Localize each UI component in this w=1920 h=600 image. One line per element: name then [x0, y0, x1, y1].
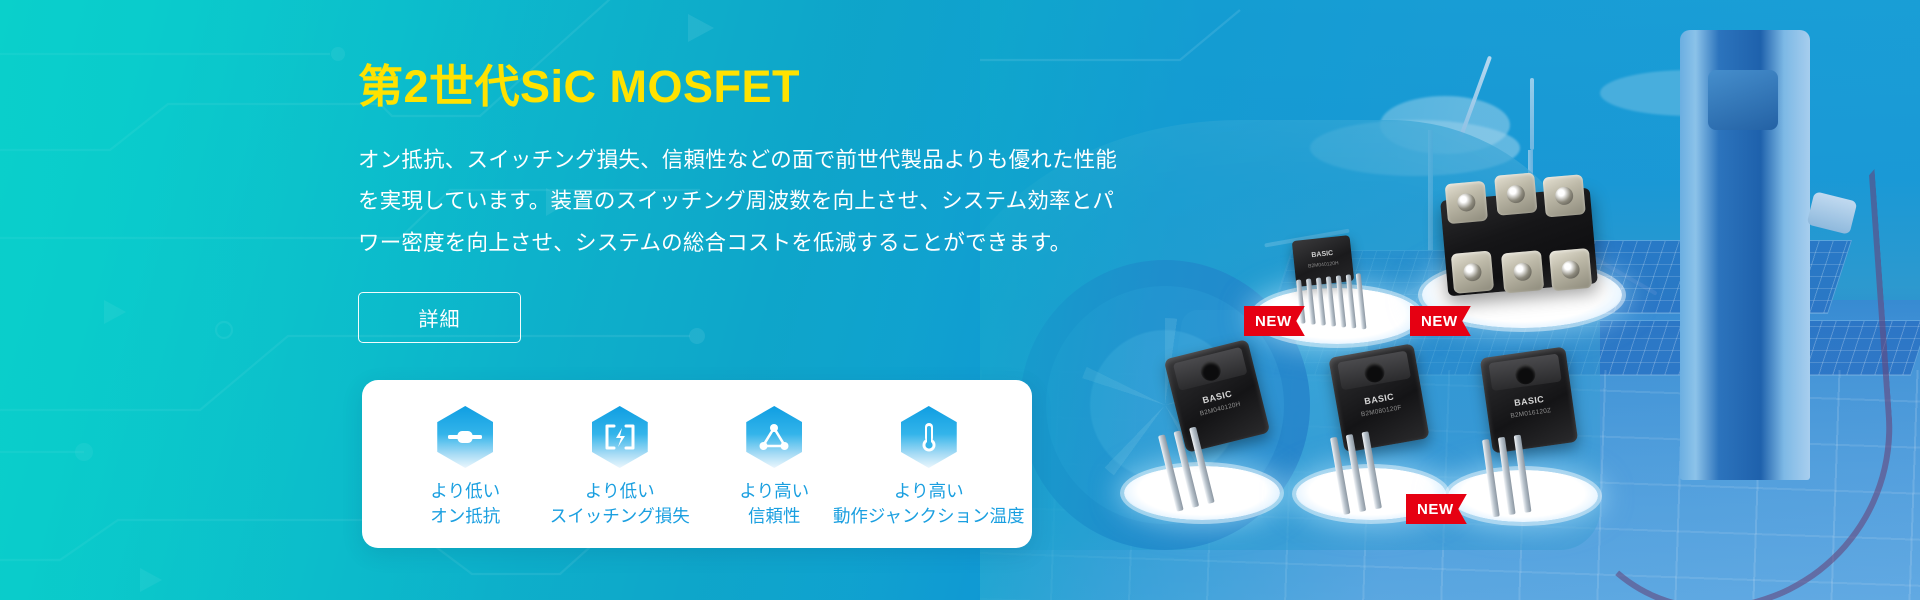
feature-label-line1: より高い: [739, 481, 809, 501]
feature-label-line1: より低い: [430, 481, 500, 501]
thermometer-icon: [901, 406, 957, 468]
feature-label-line1: より高い: [894, 481, 964, 501]
feature-label: より低い オン抵抗: [430, 479, 500, 530]
feature-label-line2: 動作ジャンクション温度: [833, 504, 1025, 529]
hero-copy: 第2世代SiC MOSFET オン抵抗、スイッチング損失、信頼性などの面で前世代…: [358, 60, 1218, 343]
switching-loss-icon: [592, 406, 648, 468]
feature-item-reliability: より高い 信頼性: [699, 406, 849, 530]
description-line: を実現しています。装置のスイッチング周波数を向上させ、システム効率とパ: [358, 181, 1198, 222]
feature-panel: より低い オン抵抗 より低い スイッチング損失: [362, 380, 1032, 548]
feature-label-line2: スイッチング損失: [550, 504, 690, 529]
package-part-number: B2M040120H: [1294, 259, 1352, 271]
hero-banner: 第2世代SiC MOSFET オン抵抗、スイッチング損失、信頼性などの面で前世代…: [0, 0, 1920, 600]
feature-label-line2: 信頼性: [739, 504, 809, 529]
details-button[interactable]: 詳細: [358, 292, 521, 343]
description-line: オン抵抗、スイッチング損失、信頼性などの面で前世代製品よりも優れた性能: [358, 140, 1198, 181]
feature-label-line1: より低い: [585, 481, 655, 501]
description-line: ワー密度を向上させ、システムの総合コストを低減することができます。: [358, 223, 1198, 264]
feature-label: より高い 信頼性: [739, 479, 809, 530]
new-badge: NEW: [1244, 306, 1305, 336]
reliability-network-icon: [746, 406, 802, 468]
new-badge: NEW: [1406, 494, 1467, 524]
new-badge: NEW: [1410, 306, 1471, 336]
power-module-package: [1440, 188, 1598, 297]
feature-item-junction-temperature: より高い 動作ジャンクション温度: [854, 406, 1004, 530]
feature-label-line2: オン抵抗: [430, 504, 500, 529]
feature-label: より低い スイッチング損失: [550, 479, 690, 530]
package-pins: [1296, 273, 1366, 335]
resistor-icon: [437, 406, 493, 468]
hero-description: オン抵抗、スイッチング損失、信頼性などの面で前世代製品よりも優れた性能 を実現し…: [358, 140, 1198, 264]
page-title: 第2世代SiC MOSFET: [358, 60, 1218, 114]
feature-item-switching-loss: より低い スイッチング損失: [545, 406, 695, 530]
feature-item-on-resistance: より低い オン抵抗: [390, 406, 540, 530]
feature-label: より高い 動作ジャンクション温度: [833, 479, 1025, 530]
product-to247-left: BASIC B2M040120H: [1116, 348, 1306, 528]
